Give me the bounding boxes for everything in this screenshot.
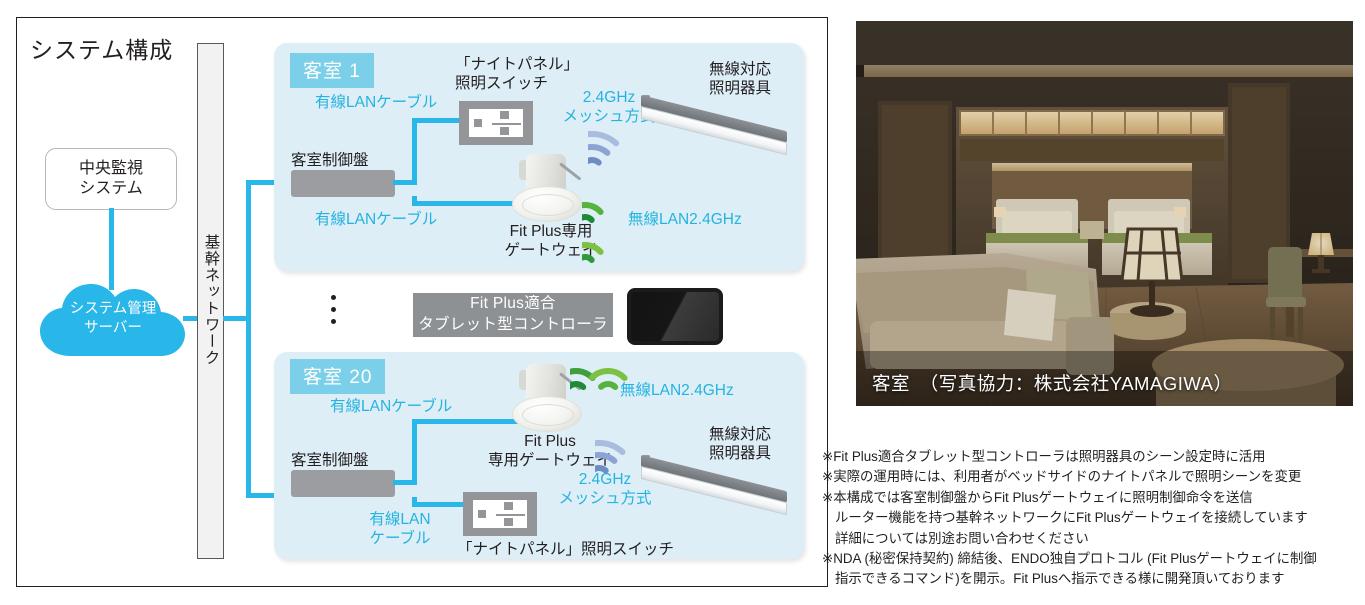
backbone-network-label: 基幹ネットワーク	[197, 200, 224, 400]
wireless-luminaire-room1	[641, 95, 791, 153]
tablet-device[interactable]	[627, 288, 723, 345]
trunk-vertical	[246, 180, 251, 498]
lan-cable-label-room1-bottom: 有線LANケーブル	[315, 210, 437, 229]
central-monitoring-line2: システム	[79, 179, 143, 199]
tablet-controller-label: Fit Plus適合 タブレット型コントローラ	[413, 293, 613, 337]
wire-room1-vertical	[412, 118, 417, 185]
ellipsis-dots	[331, 295, 336, 324]
server-label-line1: システム管理	[37, 300, 189, 319]
footnotes: ※Fit Plus適合タブレット型コントローラは照明器具のシーン設定時に活用 ※…	[822, 447, 1362, 590]
wire-room1-to-nightpanel	[412, 118, 459, 123]
luminaire-label-room1-line1: 無線対応	[690, 60, 790, 79]
luminaire-label-room1-line2: 照明器具	[690, 79, 790, 98]
night-panel-divider-room20	[496, 514, 525, 516]
footnote-5: 詳細については別途お問い合わせください	[822, 529, 1362, 549]
lan-cable-label-room20-line1: 有線LAN	[355, 510, 445, 529]
system-diagram-page: システム構成 中央監視 システム システム管理 サーバー 基幹ネットワーク 客室…	[0, 0, 1365, 605]
server-label: システム管理 サーバー	[37, 300, 189, 338]
server-label-line2: サーバー	[37, 319, 189, 338]
night-panel-divider	[492, 123, 521, 125]
control-panel-label-room1: 客室制御盤	[291, 148, 369, 170]
night-panel-dot-1-room20	[478, 510, 486, 518]
footnote-4: ルーター機能を持つ基幹ネットワークにFit Plusゲートウェイを接続しています	[822, 508, 1362, 528]
night-panel-switch-room1[interactable]	[459, 101, 533, 145]
central-monitoring-system: 中央監視 システム	[45, 148, 177, 210]
night-panel-dot-2	[500, 111, 509, 119]
footnote-3: ※本構成では客室制御盤からFit Plusゲートウェイに照明制御命令を送信	[822, 488, 1362, 508]
night-panel-face-room20	[473, 500, 527, 528]
dot-2	[331, 307, 336, 312]
gateway-ring-room1	[512, 186, 582, 222]
room-badge-20: 客室 20	[290, 359, 385, 394]
night-panel-dot-2-room20	[504, 502, 513, 510]
photo-caption: 客室 （写真協力：株式会社YAMAGIWA）	[872, 370, 1232, 396]
page-title: システム構成	[30, 31, 173, 65]
luminaire-label-room1: 無線対応 照明器具	[690, 60, 790, 99]
gateway-ring-room20	[512, 396, 582, 432]
night-panel-dot-1	[474, 119, 482, 127]
lan-cable-label-room20-line2: ケーブル	[355, 529, 445, 548]
lan-cable-label-room1-top: 有線LANケーブル	[315, 93, 437, 112]
footnote-6: ※NDA (秘密保持契約) 締結後、ENDO独自プロトコル (Fit Plusゲ…	[822, 549, 1362, 569]
wlan-label-room1: 無線LAN2.4GHz	[628, 210, 742, 229]
wlan-label-room20: 無線LAN2.4GHz	[620, 381, 734, 400]
night-panel-label-room20: 「ナイトパネル」照明スイッチ	[457, 540, 674, 559]
luminaire-label-room20: 無線対応 照明器具	[690, 425, 790, 464]
night-panel-dot-3-room20	[504, 518, 513, 526]
guest-room-photo: 客室 （写真協力：株式会社YAMAGIWA）	[856, 21, 1353, 406]
wire-room20-vertical	[412, 419, 417, 485]
footnote-1: ※Fit Plus適合タブレット型コントローラは照明器具のシーン設定時に活用	[822, 447, 1362, 467]
tablet-screen	[631, 292, 719, 341]
night-panel-face-room1	[469, 109, 523, 137]
tablet-label-line1: Fit Plus適合	[470, 294, 556, 315]
photo-illustration	[856, 21, 1353, 406]
lan-cable-label-room20-bottom: 有線LAN ケーブル	[355, 510, 445, 549]
luminaire-label-room20-line1: 無線対応	[690, 425, 790, 444]
night-panel-switch-room20[interactable]	[463, 492, 537, 536]
wire-room1-to-gateway	[412, 201, 522, 206]
footnote-2: ※実際の運用時には、利用者がベッドサイドのナイトパネルで照明シーンを変更	[822, 467, 1362, 487]
lan-cable-label-room20-top: 有線LANケーブル	[330, 397, 452, 416]
control-panel-label-room20: 客室制御盤	[291, 448, 369, 470]
night-panel-dot-3	[500, 127, 509, 135]
control-panel-room20	[291, 470, 395, 497]
luminaire-label-room20-line2: 照明器具	[690, 444, 790, 463]
dot-1	[331, 295, 336, 300]
control-panel-room1	[291, 170, 395, 197]
footnote-7: 指示できるコマンド)を開示。Fit Plusへ指示できる様に開発頂いております	[822, 569, 1362, 589]
room-badge-1: 客室 1	[290, 53, 374, 88]
night-panel-label-room1-line1: 「ナイトパネル」	[455, 55, 579, 74]
dot-3	[331, 319, 336, 324]
central-monitoring-line1: 中央監視	[79, 159, 143, 179]
wire-room20-to-nightpanel	[412, 502, 464, 507]
tablet-label-line2: タブレット型コントローラ	[418, 315, 608, 336]
system-management-server: システム管理 サーバー	[37, 278, 189, 360]
